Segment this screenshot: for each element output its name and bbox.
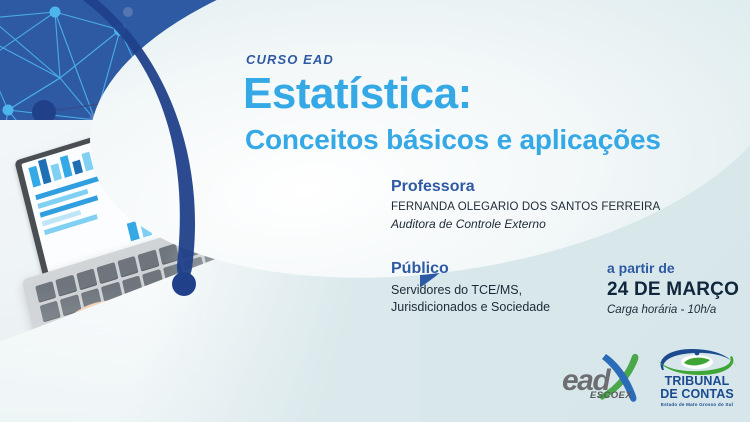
tce-state: Estado de Mato Grosso do Sul [654,403,740,408]
course-poster: CURSO EAD Estatística: Conceitos básicos… [0,0,750,422]
logo-group: ead ESCOEX TRIBUNAL DE CONTAS Estado de … [560,348,740,408]
tce-line-2: DE CONTAS [660,387,734,401]
escoex-tagline: ESCOEX [590,390,632,401]
professor-block: Professora FERNANDA OLEGARIO DOS SANTOS … [391,178,660,232]
page-title: Estatística: [243,72,472,116]
professor-heading: Professora [391,178,660,196]
workload-text: Carga horária - 10h/a [607,304,739,316]
page-subtitle: Conceitos básicos e aplicações [245,126,661,154]
date-heading: a partir de [607,260,739,276]
professor-role: Auditora de Controle Externo [391,216,660,232]
audience-line-2: Jurisdicionados e Sociedade [391,299,550,316]
poster-content: CURSO EAD Estatística: Conceitos básicos… [0,0,750,422]
tce-wordmark: TRIBUNAL DE CONTAS Estado de Mato Grosso… [654,375,740,407]
professor-name: FERNANDA OLEGARIO DOS SANTOS FERREIRA [391,200,660,216]
date-value: 24 DE MARÇO [607,280,739,301]
audience-block: Público Servidores do TCE/MS, Jurisdicio… [391,260,550,316]
audience-line-1: Servidores do TCE/MS, [391,282,550,299]
tribunal-de-contas-logo: TRIBUNAL DE CONTAS Estado de Mato Grosso… [654,348,740,406]
ead-escoex-logo: ead ESCOEX [560,352,646,404]
audience-heading: Público [391,260,550,278]
date-block: a partir de 24 DE MARÇO Carga horária - … [607,260,739,316]
course-kicker: CURSO EAD [246,52,334,67]
